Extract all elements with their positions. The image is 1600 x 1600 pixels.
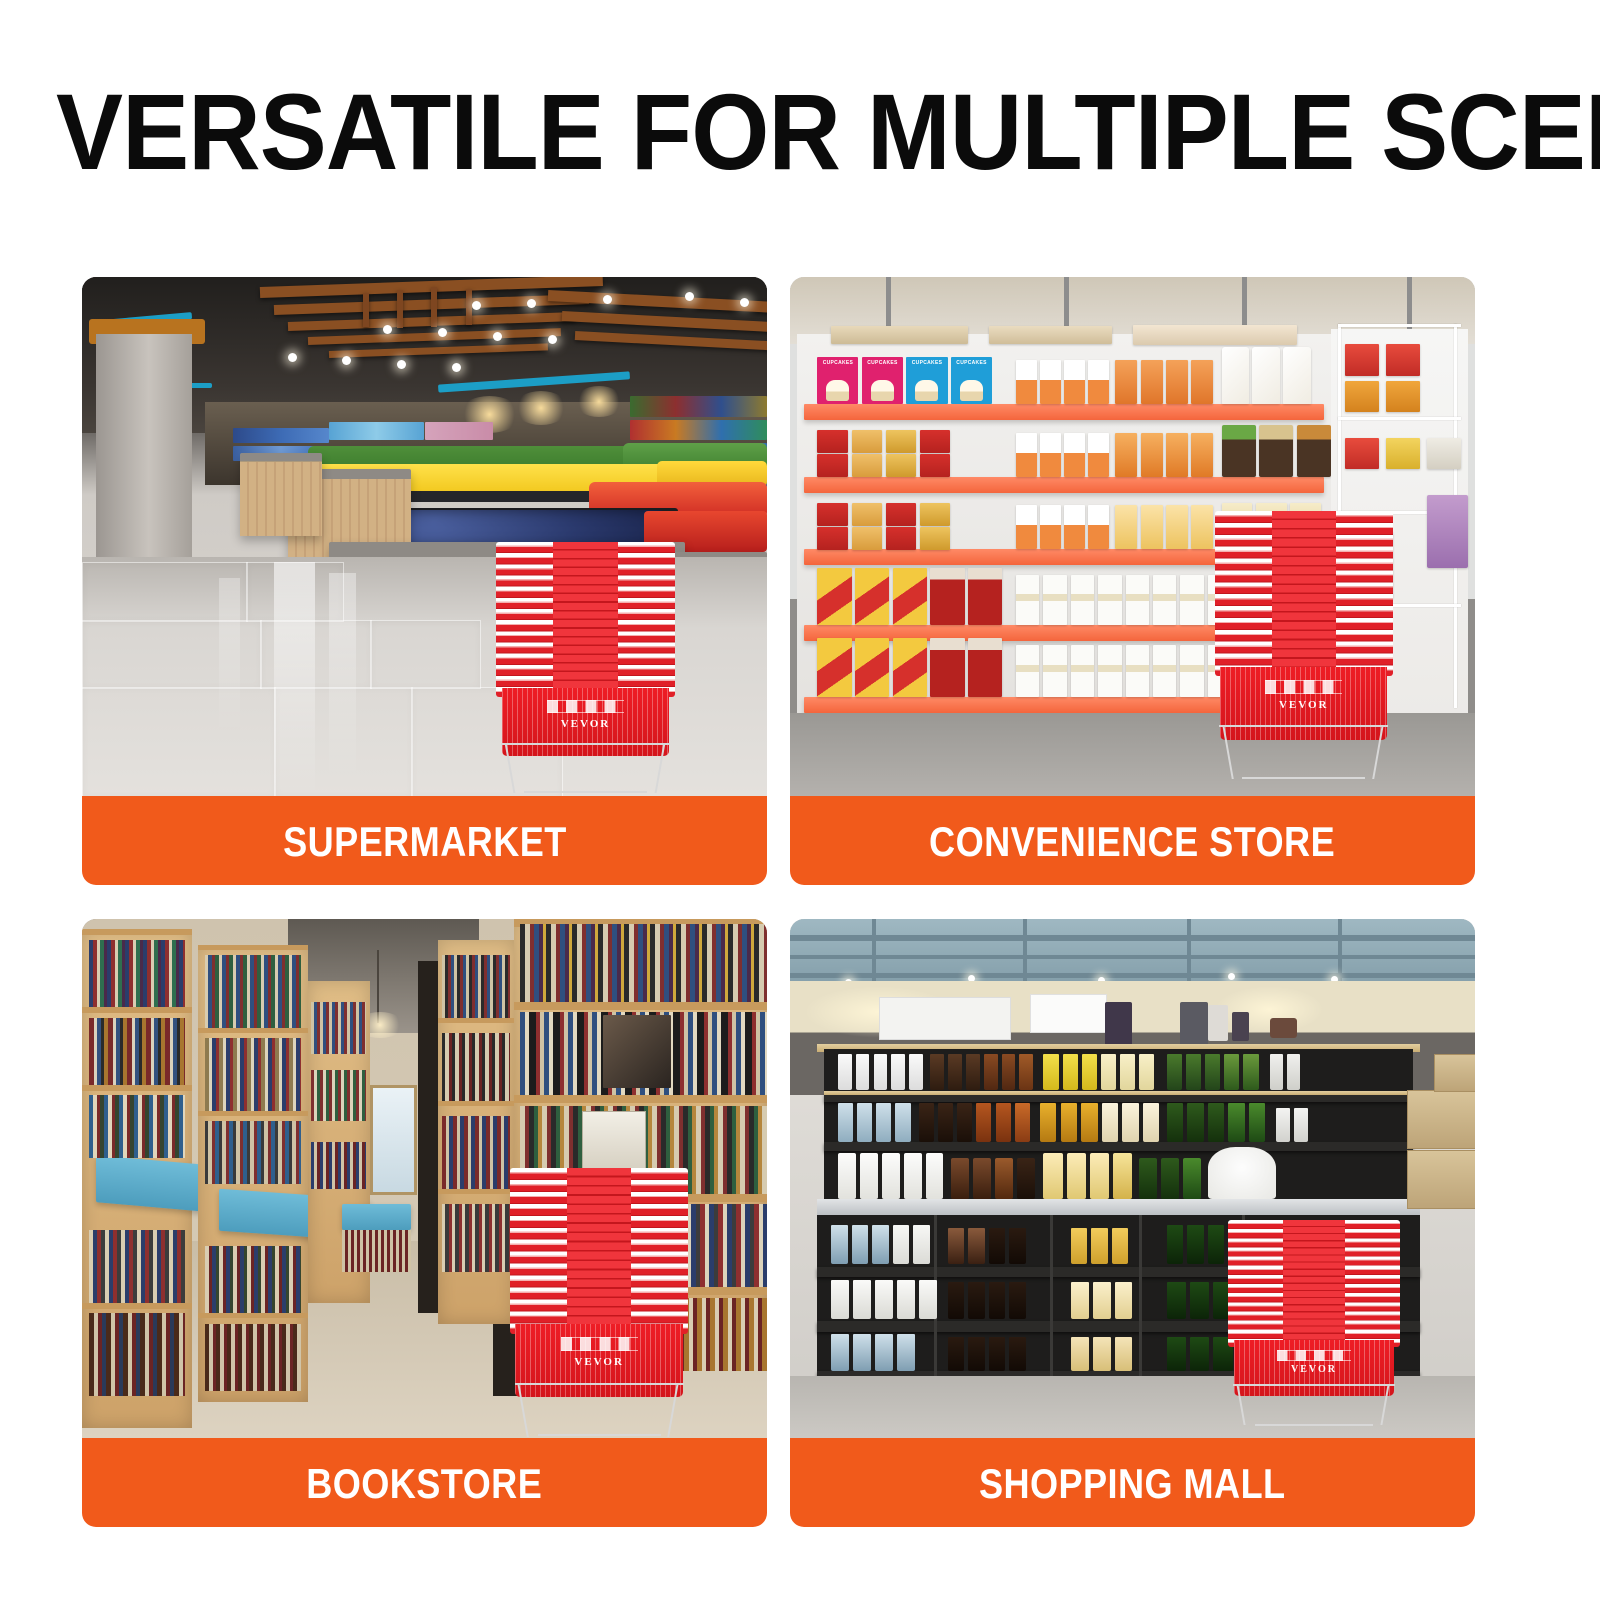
bookstore-scene-art: VEVOR (82, 919, 767, 1438)
basket-stack-bookstore: VEVOR (510, 1168, 688, 1412)
caption-bar-supermarket: SUPERMARKET (82, 796, 767, 885)
convenience-store-scene-art: CUPCAKES CUPCAKES CUPCAKES CUPCAKES (790, 277, 1475, 796)
scene-card-bookstore[interactable]: VEVOR BOOKSTORE (82, 919, 767, 1527)
scene-photo-convenience-store: CUPCAKES CUPCAKES CUPCAKES CUPCAKES (790, 277, 1475, 796)
product-box-cupcakes: CUPCAKES (862, 357, 903, 404)
scene-photo-supermarket: VEVOR (82, 277, 767, 796)
supermarket-scene-art: VEVOR (82, 277, 767, 796)
basket-brand-label: VEVOR (502, 718, 669, 730)
basket-stack-convenience-store: VEVOR (1215, 511, 1393, 755)
shopping-mall-scene-art: VEVOR (790, 919, 1475, 1438)
caption-bar-bookstore: BOOKSTORE (82, 1438, 767, 1527)
product-box-cupcakes: CUPCAKES (906, 357, 947, 404)
caption-label-convenience-store: CONVENIENCE STORE (929, 818, 1335, 866)
scene-grid: VEVOR SUPERMARKET (82, 277, 1482, 1527)
caption-label-supermarket: SUPERMARKET (283, 818, 567, 866)
caption-bar-convenience-store: CONVENIENCE STORE (790, 796, 1475, 885)
scene-card-convenience-store[interactable]: CUPCAKES CUPCAKES CUPCAKES CUPCAKES (790, 277, 1475, 885)
basket-brand-label: VEVOR (1234, 1364, 1395, 1375)
product-box-cupcakes: CUPCAKES (951, 357, 992, 404)
poster-root: VERSATILE FOR MULTIPLE SCENES (0, 0, 1600, 1600)
scene-photo-shopping-mall: VEVOR (790, 919, 1475, 1438)
caption-bar-shopping-mall: SHOPPING MALL (790, 1438, 1475, 1527)
scene-card-shopping-mall[interactable]: VEVOR SHOPPING MALL (790, 919, 1475, 1527)
page-title: VERSATILE FOR MULTIPLE SCENES (56, 78, 1544, 186)
basket-brand-label: VEVOR (515, 1356, 682, 1368)
caption-label-shopping-mall: SHOPPING MALL (979, 1460, 1286, 1508)
scene-photo-bookstore: VEVOR (82, 919, 767, 1438)
product-box-cupcakes: CUPCAKES (817, 357, 858, 404)
basket-stack-shopping-mall: VEVOR (1228, 1220, 1399, 1407)
scene-card-supermarket[interactable]: VEVOR SUPERMARKET (82, 277, 767, 885)
basket-brand-label: VEVOR (1220, 699, 1387, 711)
caption-label-bookstore: BOOKSTORE (306, 1460, 542, 1508)
basket-stack-supermarket: VEVOR (496, 542, 674, 770)
